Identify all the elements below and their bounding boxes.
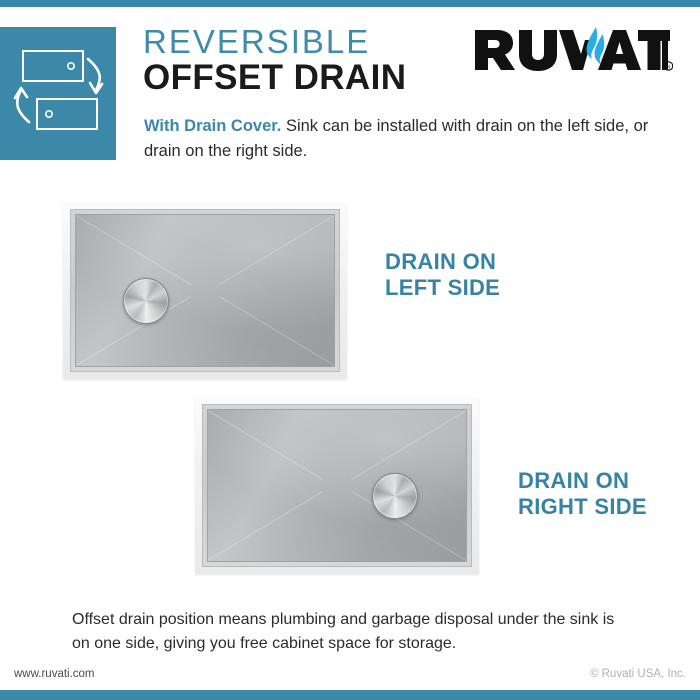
sink-rim (202, 404, 472, 567)
title-line-reversible: REVERSIBLE (143, 24, 473, 60)
sink-rim (70, 209, 340, 372)
footer-website-url[interactable]: www.ruvati.com (14, 668, 95, 680)
sink-basin (207, 409, 467, 562)
sink-image-drain-left (63, 202, 347, 379)
top-accent-bar (0, 0, 700, 7)
footer-copyright: © Ruvati USA, Inc. (590, 668, 686, 680)
sink-image-drain-right (195, 397, 479, 574)
bottom-accent-bar (0, 690, 700, 700)
svg-text:R: R (667, 64, 671, 70)
infographic-page: REVERSIBLE OFFSET DRAIN (0, 0, 700, 700)
drain-cover-icon (372, 473, 418, 519)
callout-drain-left: DRAIN ON LEFT SIDE (385, 249, 500, 301)
basin-bevel-right (208, 410, 466, 561)
drain-cover-icon (123, 278, 169, 324)
basin-sheen (76, 215, 334, 366)
callout-drain-right: DRAIN ON RIGHT SIDE (518, 468, 647, 520)
bottom-caption: Offset drain position means plumbing and… (72, 608, 632, 656)
basin-bevel-right (76, 215, 334, 366)
reversible-sink-rotation-icon (0, 27, 116, 160)
basin-sheen-secondary (208, 410, 466, 561)
basin-highlight (208, 410, 466, 561)
header-subtitle: With Drain Cover. Sink can be installed … (144, 114, 674, 164)
basin-bevel-left (208, 410, 466, 561)
subtitle-lead: With Drain Cover. (144, 117, 281, 135)
basin-sheen (208, 410, 466, 561)
title-line-offset-drain: OFFSET DRAIN (143, 58, 473, 98)
basin-bevel-left (76, 215, 334, 366)
basin-highlight (76, 215, 334, 366)
basin-sheen-secondary (76, 215, 334, 366)
sink-basin (75, 214, 335, 367)
page-title: REVERSIBLE OFFSET DRAIN (143, 24, 473, 98)
ruvati-logo: R (473, 26, 673, 74)
